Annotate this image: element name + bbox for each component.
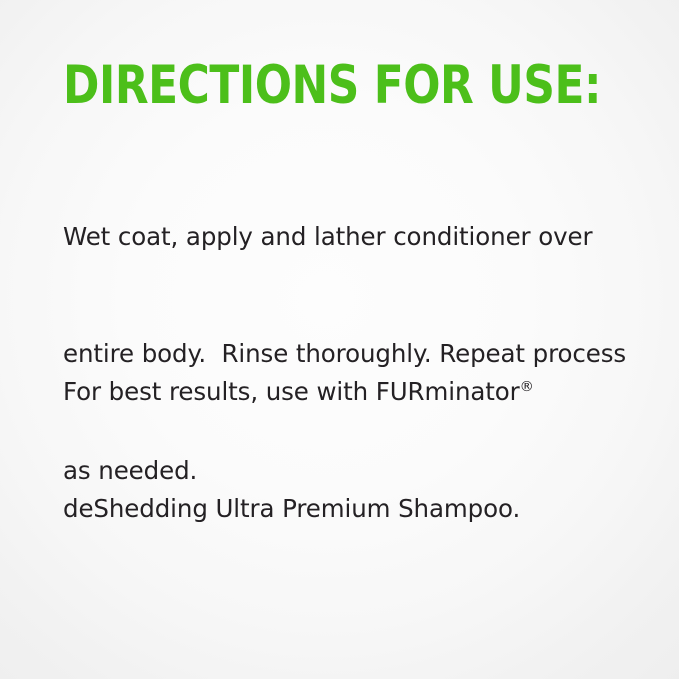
page-title: DIRECTIONS FOR USE: xyxy=(63,59,601,112)
recommendation-line-2: deShedding Ultra Premium Shampoo. xyxy=(63,489,623,528)
recommendation-line-1-text: For best results, use with FURminator xyxy=(63,377,520,406)
instructions-line-1: Wet coat, apply and lather conditioner o… xyxy=(63,217,623,256)
directions-for-use-panel: DIRECTIONS FOR USE: Wet coat, apply and … xyxy=(0,0,679,679)
recommendation-line-1: For best results, use with FURminator® xyxy=(63,372,623,411)
recommendation-paragraph: For best results, use with FURminator® d… xyxy=(63,294,623,606)
registered-trademark-icon: ® xyxy=(520,379,534,395)
